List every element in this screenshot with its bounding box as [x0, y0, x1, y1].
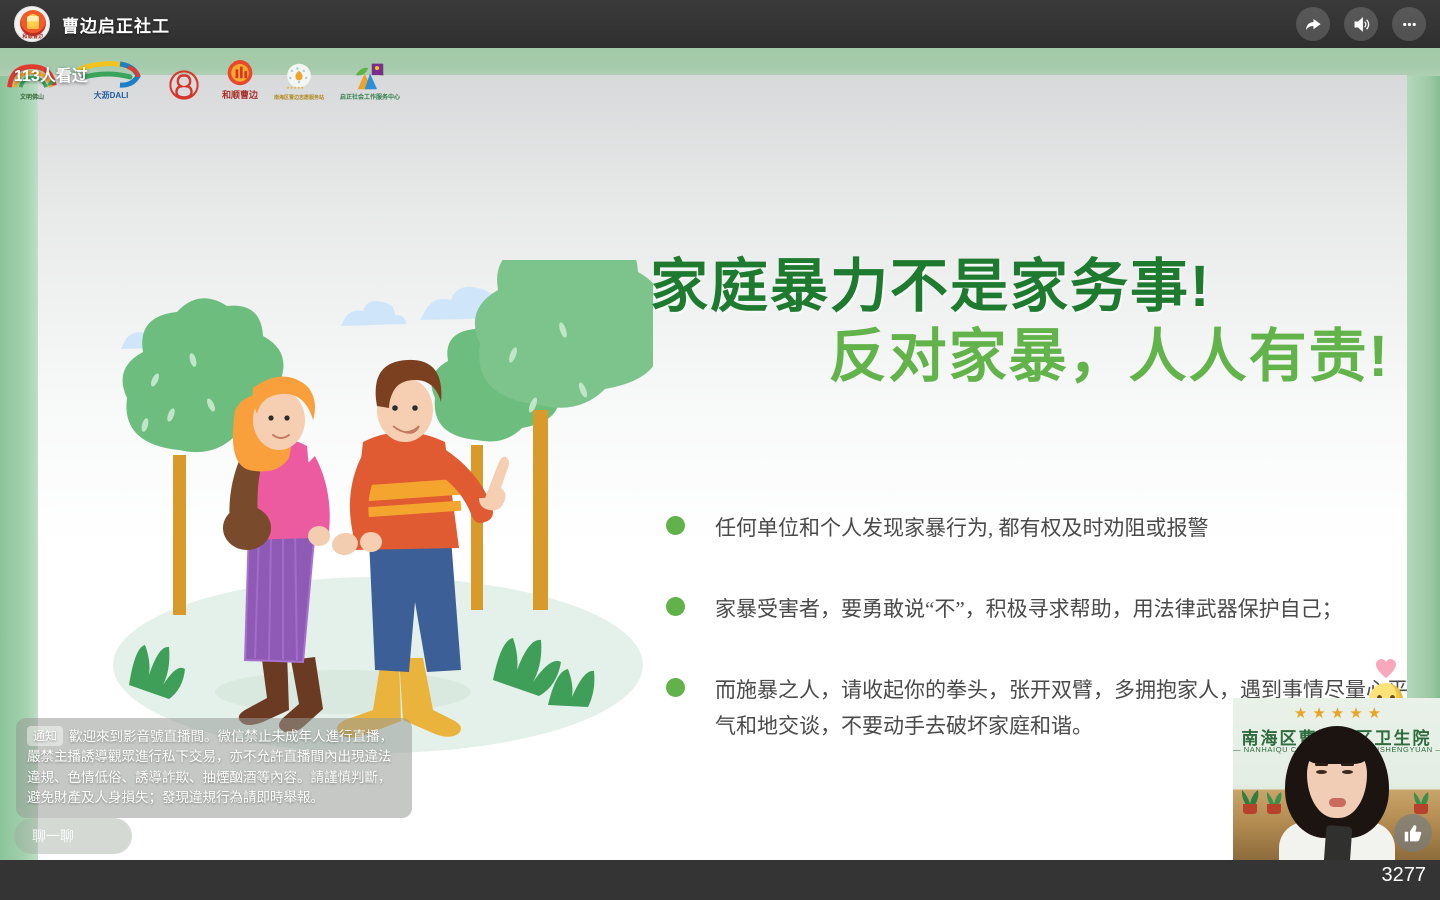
svg-text:★★★★★: ★★★★★: [286, 85, 304, 90]
volume-icon: [1352, 15, 1371, 34]
system-notice-message: 通知歡迎來到影音號直播間。微信禁止未成年人進行直播，嚴禁主播誘導觀眾進行私下交易…: [16, 718, 412, 818]
bullet-item: 任何单位和个人发现家暴行为, 都有权及时劝阻或报警: [666, 510, 1426, 547]
banner-stars: ★★★★★: [1275, 706, 1405, 721]
logo-hexun-caobian: 和顺曹边: [222, 53, 258, 101]
heart-icon: [1373, 655, 1399, 679]
avatar-label: 和顺曹边: [15, 33, 50, 40]
logo-caption: 文明佛山: [20, 92, 44, 101]
logo-caption: 和顺曹边: [222, 88, 258, 101]
slide-headline: 家庭暴力不是家务事! 反对家暴，人人有责!: [650, 255, 1390, 390]
thumbs-up-icon: [1403, 823, 1424, 844]
logo-caption: 大沥DALI: [94, 90, 129, 101]
bullet-dot-icon: [666, 597, 685, 616]
more-options-button[interactable]: [1392, 7, 1426, 41]
volume-button[interactable]: [1344, 7, 1378, 41]
logo-caption: 南海区曹边志愿服务站: [274, 94, 324, 101]
channel-avatar[interactable]: 和顺曹边: [14, 6, 50, 42]
bullet-item: 家暴受害者，要勇敢说“不”，积极寻求帮助，用法律武器保护自己；: [666, 591, 1426, 628]
logo-red-cross-emblem: [162, 53, 206, 101]
logo-nanhai-volunteer: ★★★★★ 南海区曹边志愿服务站: [274, 53, 324, 101]
logo-qizheng-social-work-center: 启正社会工作服务中心: [340, 53, 400, 101]
share-button[interactable]: [1296, 7, 1330, 41]
share-icon: [1304, 15, 1323, 34]
plant-pot: [1414, 804, 1428, 814]
like-button[interactable]: [1394, 814, 1432, 852]
bullet-text: 任何单位和个人发现家暴行为, 都有权及时劝阻或报警: [715, 510, 1209, 547]
chat-input[interactable]: 聊一聊: [14, 818, 132, 854]
top-bar-actions: [1296, 7, 1426, 41]
chat-input-placeholder: 聊一聊: [32, 826, 74, 846]
headline-line-2: 反对家暴，人人有责!: [650, 325, 1390, 390]
viewer-count: 113人看过: [14, 62, 88, 86]
live-stream-page: 家庭暴力不是家务事! 反对家暴，人人有责! 任何单位和个人发现家暴行为, 都有权…: [0, 0, 1440, 900]
couple-walking-in-park-illustration: [93, 260, 653, 760]
live-presenter: [1285, 726, 1389, 860]
notice-text: 歡迎來到影音號直播間。微信禁止未成年人進行直播，嚴禁主播誘導觀眾進行私下交易，亦…: [27, 729, 393, 805]
presenter-video-window[interactable]: ★★★★★ 南海区曹边社区卫生院 — NANHAIQU CAOBIAN SHEQ…: [1233, 698, 1440, 860]
more-options-icon: [1400, 15, 1419, 34]
notice-badge: 通知: [27, 726, 63, 746]
headline-line-1: 家庭暴力不是家务事!: [650, 255, 1390, 319]
bottom-bar: [0, 860, 1440, 900]
plant-pot: [1267, 804, 1281, 814]
like-count: 3277: [1382, 864, 1427, 887]
channel-title: 曹边启正社工: [62, 12, 170, 37]
bullet-dot-icon: [666, 516, 685, 535]
top-bar: 和顺曹边 曹边启正社工: [0, 0, 1440, 48]
bullet-dot-icon: [666, 678, 685, 697]
plant-pot: [1243, 804, 1257, 814]
bullet-text: 家暴受害者，要勇敢说“不”，积极寻求帮助，用法律武器保护自己；: [715, 591, 1343, 628]
logo-caption: 启正社会工作服务中心: [340, 92, 400, 101]
